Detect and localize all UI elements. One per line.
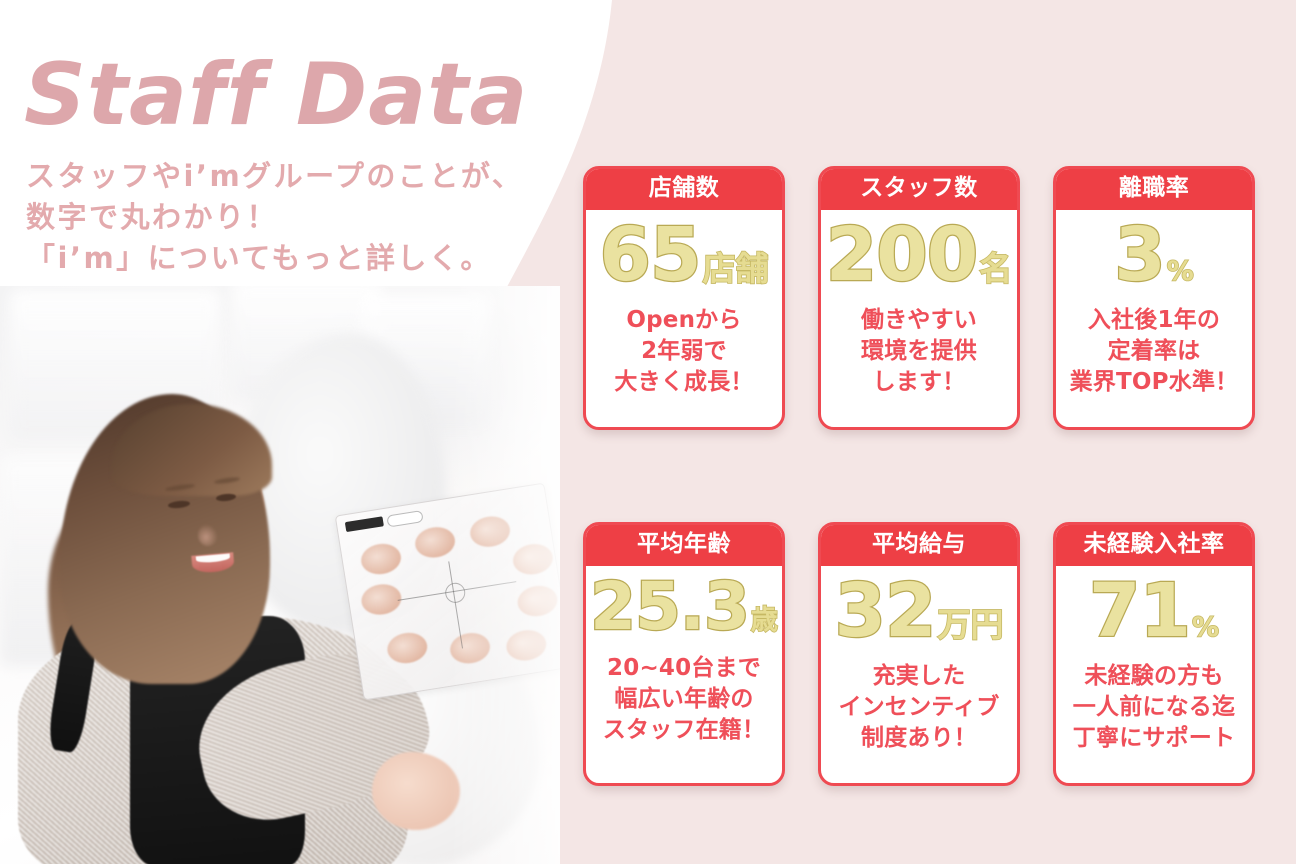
stat-value-row: 3 % <box>1114 218 1194 292</box>
staff-photo <box>0 286 560 864</box>
page-title: Staff Data <box>24 52 564 138</box>
stat-number: 3 <box>1114 218 1165 292</box>
stat-number: 25.3 <box>590 574 749 640</box>
stat-value-row: 71 % <box>1089 574 1219 648</box>
stat-description: 未経験の方も 一人前になる迄 丁寧にサポート <box>1073 661 1235 753</box>
stat-card-label: 平均給与 <box>821 525 1017 566</box>
stat-description: 働きやすい 環境を提供 します！ <box>861 305 977 397</box>
stat-card-average-age[interactable]: 平均年齢 25.3 歳 20~40台まで 幅広い年齢の スタッフ在籍！ <box>583 522 785 786</box>
stat-card-label: 未経験入社率 <box>1056 525 1252 566</box>
stat-card-body: 65 店舗 Openから 2年弱で 大きく成長！ <box>586 210 782 427</box>
stat-number: 32 <box>835 574 936 648</box>
stat-card-grid: 店舗数 65 店舗 Openから 2年弱で 大きく成長！ スタッフ数 200 名… <box>583 166 1255 786</box>
stat-number: 200 <box>826 218 977 292</box>
stat-unit: 名 <box>979 252 1012 285</box>
stat-unit: 店舗 <box>702 252 768 285</box>
headline-block: Staff Data スタッフやi’mグループのことが、 数字で丸わかり！ 「i… <box>24 52 564 280</box>
stat-unit: % <box>1192 614 1219 641</box>
stat-card-inexperienced-hire-rate[interactable]: 未経験入社率 71 % 未経験の方も 一人前になる迄 丁寧にサポート <box>1053 522 1255 786</box>
photo-hand <box>372 752 460 830</box>
stat-description: 入社後1年の 定着率は 業界TOP水準！ <box>1070 305 1239 397</box>
stat-value-row: 200 名 <box>826 218 1012 292</box>
stat-card-label: 平均年齢 <box>586 525 782 566</box>
stat-card-staff-count[interactable]: スタッフ数 200 名 働きやすい 環境を提供 します！ <box>818 166 1020 430</box>
stat-card-label: 離職率 <box>1056 169 1252 210</box>
stat-value-row: 65 店舗 <box>600 218 769 292</box>
page-subtitle: スタッフやi’mグループのことが、 数字で丸わかり！ 「i’m」についてもっと詳… <box>26 156 564 280</box>
stat-card-body: 3 % 入社後1年の 定着率は 業界TOP水準！ <box>1056 210 1252 427</box>
stat-card-body: 71 % 未経験の方も 一人前になる迄 丁寧にサポート <box>1056 566 1252 783</box>
stat-card-body: 32 万円 充実した インセンティブ 制度あり！ <box>821 566 1017 783</box>
photo-nose <box>198 524 218 546</box>
stat-card-stores[interactable]: 店舗数 65 店舗 Openから 2年弱で 大きく成長！ <box>583 166 785 430</box>
stat-description: 20~40台まで 幅広い年齢の スタッフ在籍！ <box>603 653 765 745</box>
stat-description: Openから 2年弱で 大きく成長！ <box>614 305 753 397</box>
stat-card-average-salary[interactable]: 平均給与 32 万円 充実した インセンティブ 制度あり！ <box>818 522 1020 786</box>
photo-edge-fade <box>450 286 560 864</box>
stat-value-row: 32 万円 <box>835 574 1004 648</box>
stat-number: 65 <box>600 218 701 292</box>
stat-card-body: 200 名 働きやすい 環境を提供 します！ <box>821 210 1017 427</box>
photo-background <box>0 286 560 864</box>
staff-data-page: Staff Data スタッフやi’mグループのことが、 数字で丸わかり！ 「i… <box>0 0 1296 864</box>
stat-card-label: 店舗数 <box>586 169 782 210</box>
stat-number: 71 <box>1089 574 1190 648</box>
stat-card-label: スタッフ数 <box>821 169 1017 210</box>
stat-unit: 歳 <box>751 607 778 634</box>
stat-value-row: 25.3 歳 <box>590 574 778 640</box>
stat-card-turnover-rate[interactable]: 離職率 3 % 入社後1年の 定着率は 業界TOP水準！ <box>1053 166 1255 430</box>
stat-description: 充実した インセンティブ 制度あり！ <box>838 661 999 753</box>
stat-unit: % <box>1167 258 1194 285</box>
stat-unit: 万円 <box>937 608 1003 641</box>
stat-card-body: 25.3 歳 20~40台まで 幅広い年齢の スタッフ在籍！ <box>586 566 782 783</box>
